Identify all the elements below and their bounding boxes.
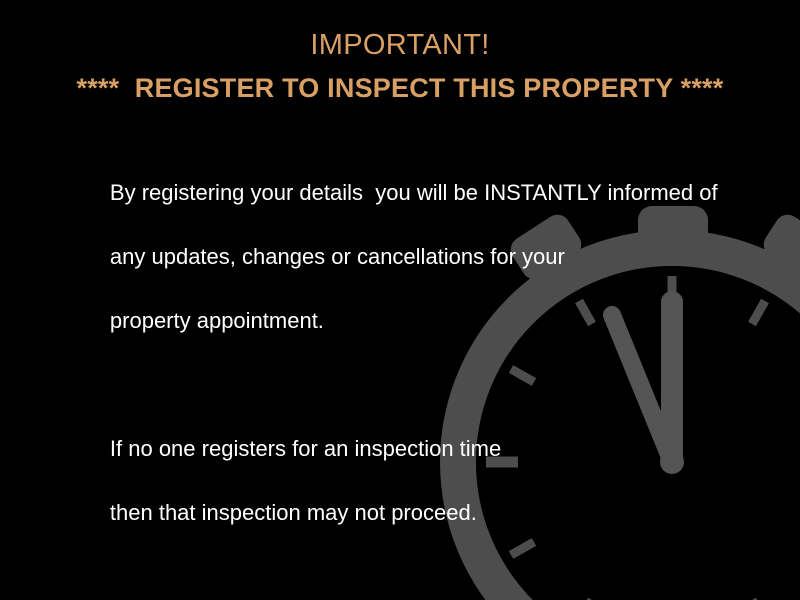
paragraph2-line2: then that inspection may not proceed. [110,500,477,525]
paragraph-no-registrations: If no one registers for an inspection ti… [61,401,721,561]
paragraph1-line3: property appointment. [110,308,324,333]
text-layer: IMPORTANT! **** REGISTER TO INSPECT THIS… [0,0,800,600]
paragraph-spacer-2 [61,561,721,593]
paragraph-registering-details: By registering your details you will be … [61,145,721,369]
heading-important: IMPORTANT! [0,26,800,64]
heading-block: IMPORTANT! **** REGISTER TO INSPECT THIS… [0,26,800,108]
paragraph1-line1: By registering your details you will be … [110,180,718,205]
paragraph2-line1: If no one registers for an inspection ti… [110,436,501,461]
body-block: By registering your details you will be … [61,145,721,600]
closing-dont-miss-out: DON’T MISS OUT [61,593,721,600]
paragraph-spacer-1 [61,369,721,401]
paragraph1-line2: any updates, changes or cancellations fo… [110,244,565,269]
poster-slide: IMPORTANT! **** REGISTER TO INSPECT THIS… [0,0,800,600]
heading-register-to-inspect: **** REGISTER TO INSPECT THIS PROPERTY *… [0,68,800,108]
